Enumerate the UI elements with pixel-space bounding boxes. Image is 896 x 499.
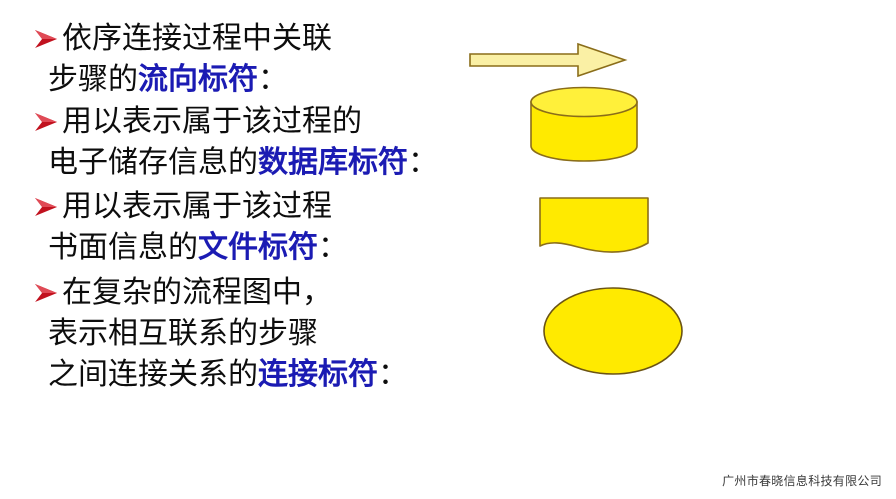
line-text: 依序连接过程中关联 [62, 21, 332, 56]
line-text: 电子储存信息的 [48, 145, 258, 180]
bullet-item-1: 依序连接过程中关联 步骤的流向标符： [0, 18, 500, 100]
bullet-line: 在复杂的流程图中， [0, 272, 500, 313]
highlight-term: 流向标符 [138, 62, 258, 97]
bullet-item-4: 在复杂的流程图中， 表示相互联系的步骤 之间连接关系的连接标符： [0, 272, 500, 395]
slide-canvas: 依序连接过程中关联 步骤的流向标符： 用以表示属于该过程的 电子储存信息的数据库… [0, 0, 896, 499]
highlight-term: 数据库标符 [258, 145, 408, 180]
bullet-line: 依序连接过程中关联 [0, 18, 500, 59]
line-text: 之间连接关系的 [48, 357, 258, 392]
bullet-line: 用以表示属于该过程的 [0, 101, 500, 142]
line-text: 用以表示属于该过程 [62, 189, 332, 224]
line-text: 表示相互联系的步骤 [48, 316, 318, 351]
highlight-term: 文件标符 [198, 230, 318, 265]
line-tail: ： [408, 145, 438, 180]
flow-arrow-shape [468, 42, 628, 78]
line-text: 在复杂的流程图中， [62, 275, 332, 310]
bullet-item-3: 用以表示属于该过程 书面信息的文件标符： [0, 186, 500, 268]
bullet-line: 电子储存信息的数据库标符： [0, 142, 500, 183]
bullet-item-2: 用以表示属于该过程的 电子储存信息的数据库标符： [0, 101, 500, 183]
bullet-list: 依序连接过程中关联 步骤的流向标符： 用以表示属于该过程的 电子储存信息的数据库… [0, 0, 500, 420]
connector-ellipse-shape [542, 286, 684, 376]
bullet-line: 步骤的流向标符： [0, 59, 500, 100]
document-shape [538, 196, 650, 258]
line-text: 用以表示属于该过程的 [62, 104, 362, 139]
line-text: 步骤的 [48, 62, 138, 97]
line-text: 书面信息的 [48, 230, 198, 265]
highlight-term: 连接标符 [258, 357, 378, 392]
bullet-line: 表示相互联系的步骤 [0, 313, 500, 354]
bullet-line: 之间连接关系的连接标符： [0, 354, 500, 395]
line-tail: ： [318, 230, 348, 265]
bullet-line: 用以表示属于该过程 [0, 186, 500, 227]
bullet-line: 书面信息的文件标符： [0, 227, 500, 268]
line-tail: ： [258, 62, 288, 97]
line-tail: ： [378, 357, 408, 392]
database-cylinder-shape [528, 86, 640, 162]
footer-company-name: 广州市春晓信息科技有限公司 [722, 472, 882, 489]
